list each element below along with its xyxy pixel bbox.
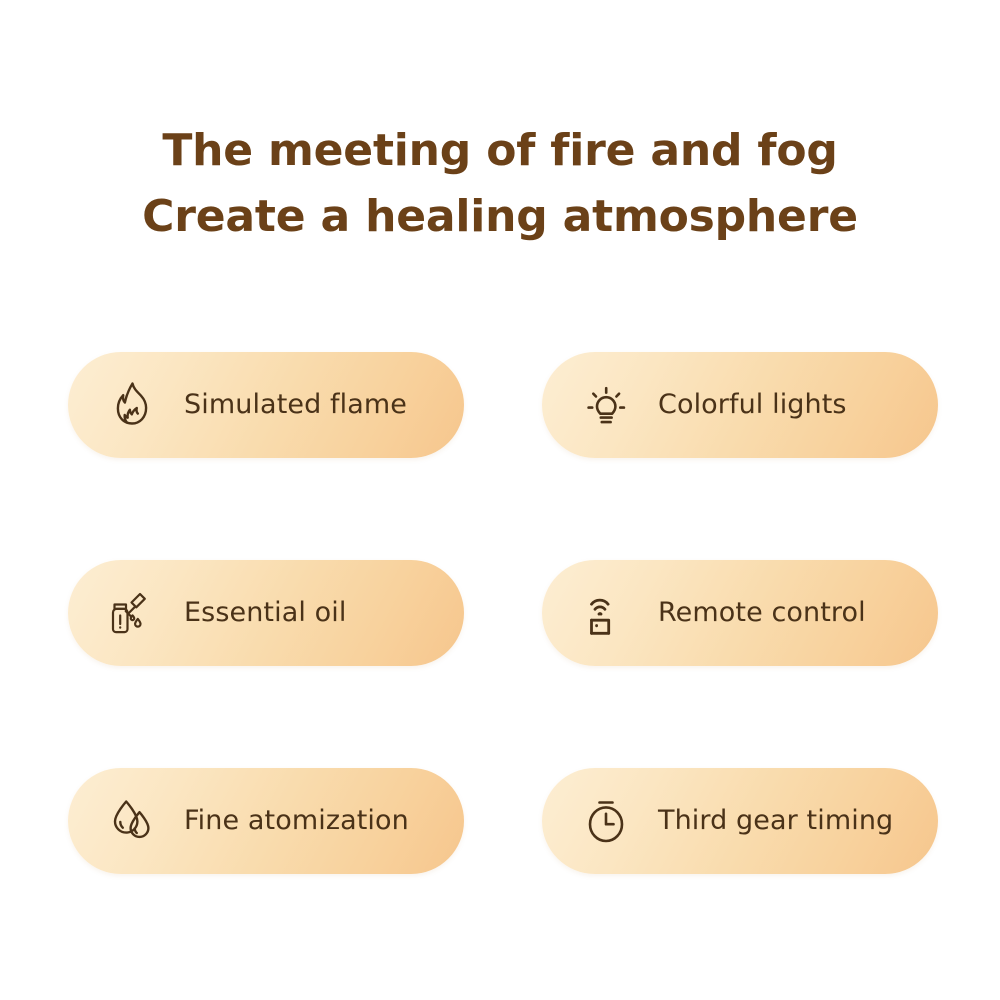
water-droplets-icon	[104, 793, 160, 849]
feature-label: Third gear timing	[658, 804, 893, 838]
feature-pill-colorful-lights[interactable]: Colorful lights	[542, 352, 938, 458]
feature-pill-fine-atomization[interactable]: Fine atomization	[68, 768, 464, 874]
feature-list: Simulated flame Colorful lights	[68, 352, 938, 874]
feature-label: Essential oil	[184, 596, 346, 630]
feature-pill-third-gear-timing[interactable]: Third gear timing	[542, 768, 938, 874]
flame-icon	[104, 377, 160, 433]
stopwatch-icon	[578, 793, 634, 849]
feature-pill-simulated-flame[interactable]: Simulated flame	[68, 352, 464, 458]
promo-feature-page: The meeting of fire and fog Create a hea…	[0, 0, 1000, 1000]
remote-control-icon	[578, 585, 634, 641]
feature-label: Fine atomization	[184, 804, 409, 838]
dropper-bottle-icon	[104, 585, 160, 641]
feature-label: Remote control	[658, 596, 866, 630]
feature-label: Colorful lights	[658, 388, 847, 422]
feature-label: Simulated flame	[184, 388, 407, 422]
page-title-line-1: The meeting of fire and fog	[0, 118, 1000, 184]
feature-pill-essential-oil[interactable]: Essential oil	[68, 560, 464, 666]
page-title-line-2: Create a healing atmosphere	[0, 184, 1000, 250]
lightbulb-icon	[578, 377, 634, 433]
feature-pill-remote-control[interactable]: Remote control	[542, 560, 938, 666]
page-title: The meeting of fire and fog Create a hea…	[0, 118, 1000, 250]
